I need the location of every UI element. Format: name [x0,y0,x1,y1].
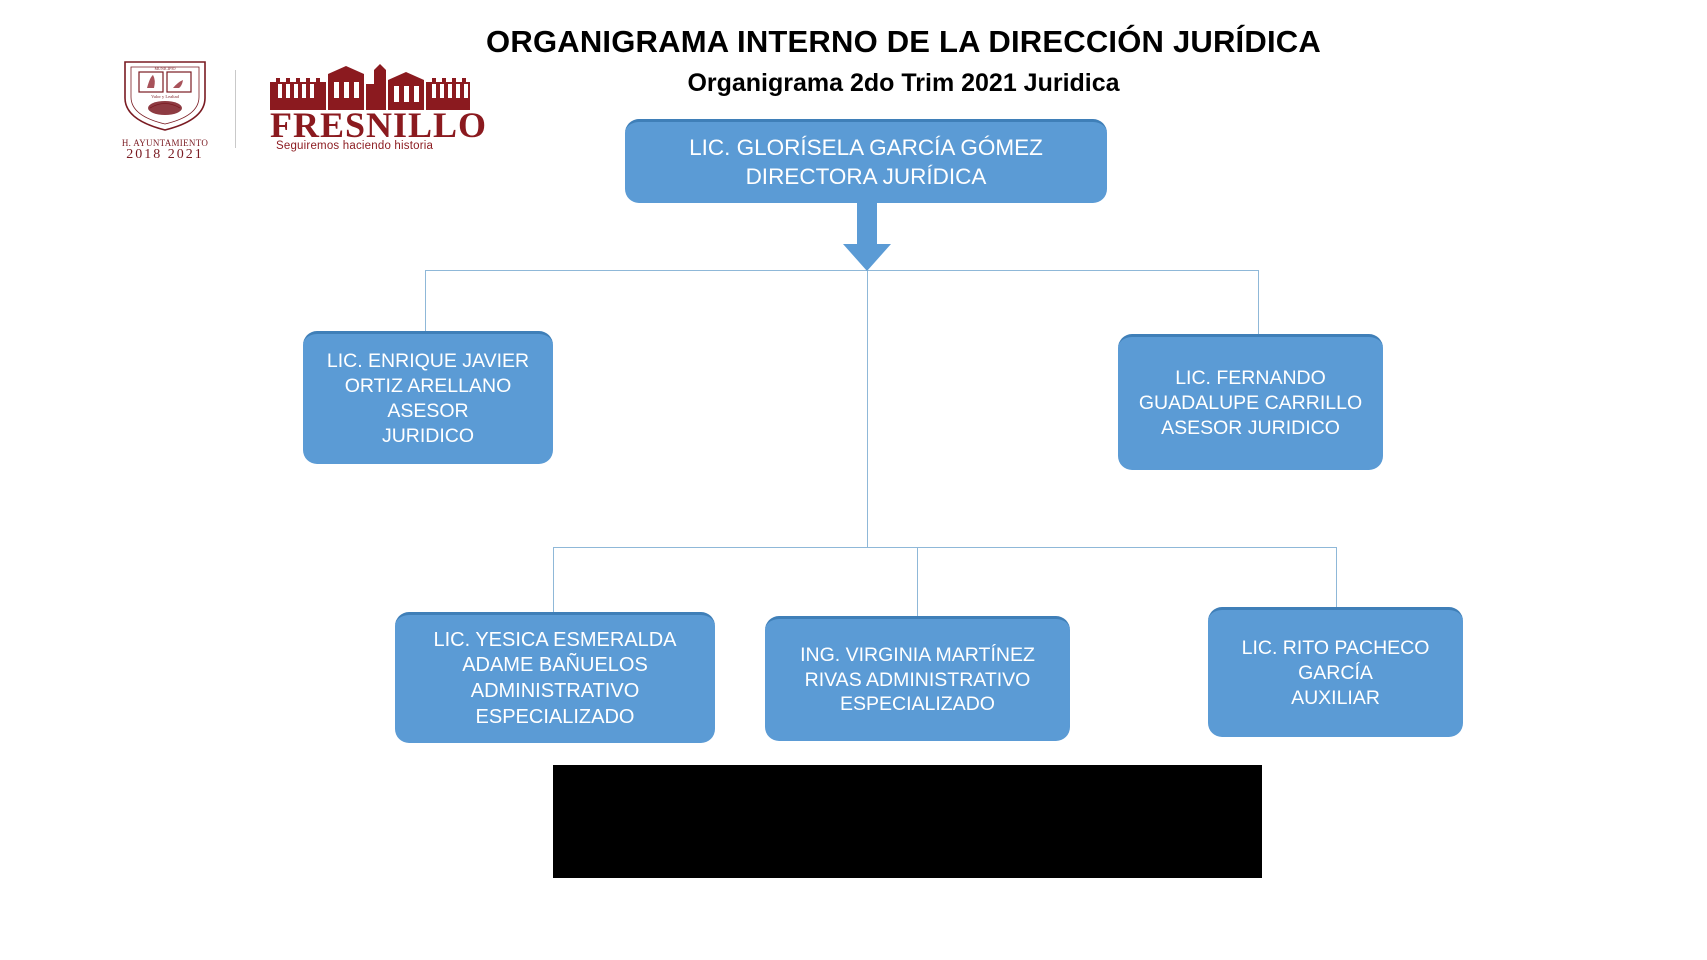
org-node-admin-2-text: ING. VIRGINIA MARTÍNEZ RIVAS ADMINISTRAT… [765,643,1070,718]
org-node-director[interactable]: LIC. GLORÍSELA GARCÍA GÓMEZ DIRECTORA JU… [625,119,1107,203]
org-node-asesor-1-text: LIC. ENRIQUE JAVIER ORTIZ ARELLANO ASESO… [303,349,553,449]
org-node-asesor-1-role-line1: ASESOR [311,399,545,424]
logo-divider [235,70,236,148]
org-node-director-text: LIC. GLORÍSELA GARCÍA GÓMEZ DIRECTORA JU… [625,134,1107,192]
fresnillo-skyline-icon [270,64,470,110]
connector-horizontal-level1 [425,270,1259,271]
org-node-admin-1-role-line1: ADMINISTRATIVO [403,679,707,705]
org-node-auxiliar-name-line2: GARCÍA [1216,661,1455,686]
org-node-auxiliar[interactable]: LIC. RITO PACHECO GARCÍA AUXILIAR [1208,607,1463,737]
connector-vertical-auxiliar [1336,547,1337,608]
org-node-asesor-2-name-line2: GUADALUPE CARRILLO [1126,391,1375,416]
org-node-auxiliar-name-line1: LIC. RITO PACHECO [1216,636,1455,661]
org-node-admin-1-name-line2: ADAME BAÑUELOS [403,653,707,679]
crest-caption-years: 2018 2021 [110,148,220,163]
org-node-asesor-1-name-line2: ORTIZ ARELLANO [311,374,545,399]
down-arrow-icon [843,200,891,271]
connector-horizontal-level2 [553,547,1337,548]
svg-text:MUNICIPIO: MUNICIPIO [154,66,175,71]
municipality-crest-logo: Valor y Lealtad MUNICIPIO H. AYUNTAMIENT… [110,58,220,163]
org-node-auxiliar-text: LIC. RITO PACHECO GARCÍA AUXILIAR [1208,636,1463,711]
connector-vertical-admin-2 [917,547,918,617]
org-node-admin-2-role: ESPECIALIZADO [773,692,1062,717]
page-title: ORGANIGRAMA INTERNO DE LA DIRECCIÓN JURÍ… [0,24,1707,60]
org-node-asesor-1-role-line2: JURIDICO [311,424,545,449]
org-node-auxiliar-role: AUXILIAR [1216,686,1455,711]
municipal-crest-icon: Valor y Lealtad MUNICIPIO [117,58,213,132]
fresnillo-brand-logo: FRESNILLO Seguiremos haciendo historia [270,64,485,152]
org-node-director-role: DIRECTORA JURÍDICA [633,163,1099,192]
org-node-asesor-2-text: LIC. FERNANDO GUADALUPE CARRILLO ASESOR … [1118,366,1383,441]
connector-vertical-asesor-1 [425,270,426,332]
org-node-admin-1[interactable]: LIC. YESICA ESMERALDA ADAME BAÑUELOS ADM… [395,612,715,743]
connector-vertical-admin-1 [553,547,554,613]
org-node-admin-2-name-line1: ING. VIRGINIA MARTÍNEZ [773,643,1062,668]
redaction-block [553,765,1262,878]
org-node-asesor-1[interactable]: LIC. ENRIQUE JAVIER ORTIZ ARELLANO ASESO… [303,331,553,464]
org-node-asesor-2-role: ASESOR JURIDICO [1126,416,1375,441]
org-node-asesor-2-name-line1: LIC. FERNANDO [1126,366,1375,391]
org-node-admin-2-name-line2: RIVAS ADMINISTRATIVO [773,668,1062,693]
logo-bar: Valor y Lealtad MUNICIPIO H. AYUNTAMIENT… [100,58,500,168]
org-node-admin-1-name-line1: LIC. YESICA ESMERALDA [403,628,707,654]
connector-vertical-asesor-2 [1258,270,1259,335]
fresnillo-wordmark: FRESNILLO [270,108,485,142]
org-node-director-name: LIC. GLORÍSELA GARCÍA GÓMEZ [633,134,1099,163]
org-node-admin-1-text: LIC. YESICA ESMERALDA ADAME BAÑUELOS ADM… [395,628,715,730]
svg-text:Valor y Lealtad: Valor y Lealtad [151,94,179,99]
org-node-asesor-2[interactable]: LIC. FERNANDO GUADALUPE CARRILLO ASESOR … [1118,334,1383,470]
org-node-asesor-1-name-line1: LIC. ENRIQUE JAVIER [311,349,545,374]
connector-vertical-spine [867,270,868,548]
org-node-admin-1-role-line2: ESPECIALIZADO [403,705,707,731]
org-node-admin-2[interactable]: ING. VIRGINIA MARTÍNEZ RIVAS ADMINISTRAT… [765,616,1070,741]
